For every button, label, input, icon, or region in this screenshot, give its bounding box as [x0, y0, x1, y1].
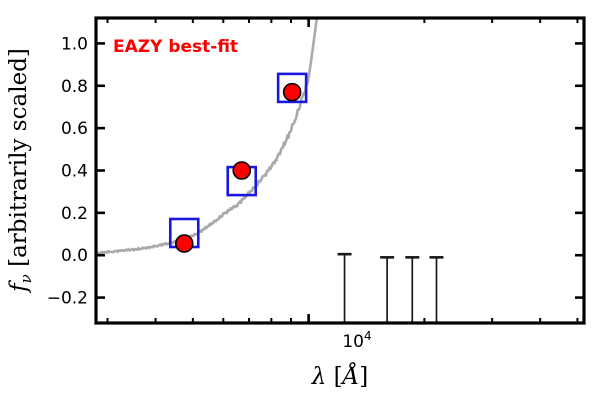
y-tick-label: 0.2: [61, 204, 88, 224]
observed-photometry-point: [284, 84, 301, 101]
x-tick-label-1e4: 104: [342, 329, 371, 352]
y-tick-label: 0.8: [61, 77, 88, 97]
axis-tick-labels: −0.20.00.20.40.60.81.0: [47, 34, 88, 308]
plot-area-background: [96, 18, 584, 323]
y-tick-label: 1.0: [61, 34, 88, 54]
observed-photometry-point: [233, 162, 250, 179]
observed-photometry-point: [176, 235, 193, 252]
x-axis-label: λ [Å]: [311, 362, 368, 390]
y-tick-label: 0.0: [61, 246, 88, 266]
spectral-energy-distribution-plot: −0.20.00.20.40.60.81.0 104 λ [Å] fν [arb…: [0, 0, 600, 400]
y-tick-label: 0.4: [61, 162, 88, 182]
y-tick-label: −0.2: [47, 289, 88, 309]
y-axis-label: fν [arbitrarily scaled]: [6, 48, 35, 294]
figure-container: −0.20.00.20.40.60.81.0 104 λ [Å] fν [arb…: [0, 0, 600, 400]
y-tick-label: 0.6: [61, 119, 88, 139]
eazy-best-fit-annotation: EAZY best-fit: [113, 37, 238, 57]
